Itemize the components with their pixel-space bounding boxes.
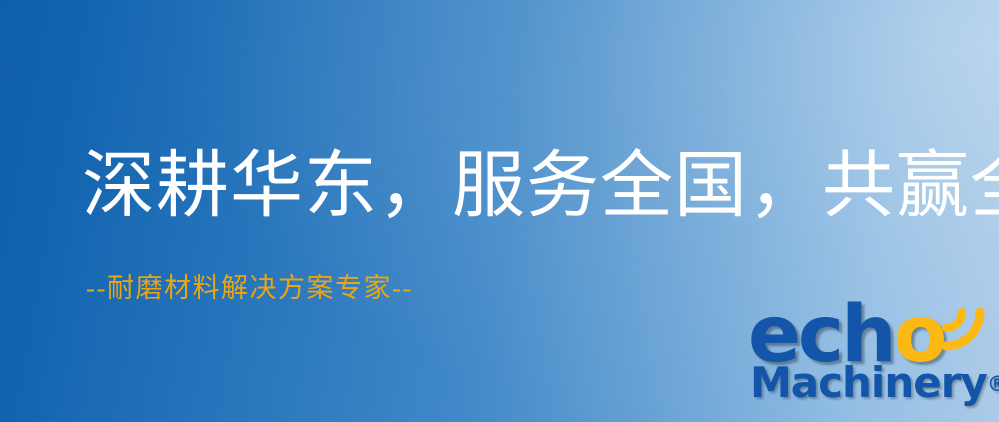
banner-headline: 深耕华东，服务全国，共赢全球	[82, 148, 999, 225]
signal-waves-icon	[924, 290, 998, 364]
registered-trademark-icon: ®	[987, 372, 999, 396]
hero-banner: 深耕华东，服务全国，共赢全球 --耐磨材料解决方案专家-- echo Machi…	[0, 0, 999, 422]
banner-subtitle: --耐磨材料解决方案专家--	[86, 266, 413, 305]
company-logo[interactable]: echo Machinery®	[748, 296, 993, 418]
logo-subword-wrapper: Machinery®	[750, 362, 999, 404]
logo-subword-text: Machinery	[750, 358, 987, 407]
